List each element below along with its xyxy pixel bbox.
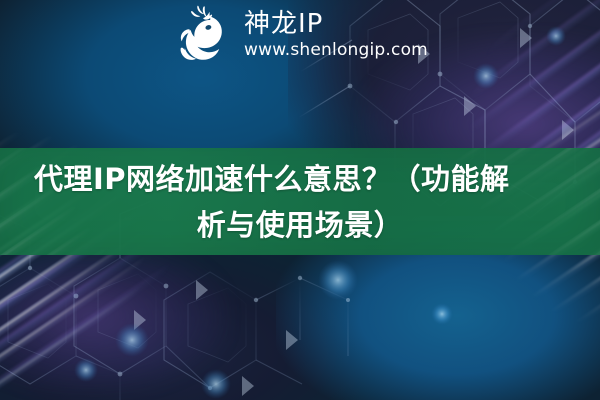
- site-logo[interactable]: 神龙IP www.shenlongip.com: [168, 4, 428, 66]
- brand-name-cn: 神龙IP: [244, 9, 428, 39]
- headline-line-1: 代理IP网络加速什么意思？（功能解: [26, 156, 574, 202]
- logo-text-block: 神龙IP www.shenlongip.com: [244, 9, 428, 61]
- brand-website: www.shenlongip.com: [244, 39, 428, 61]
- promo-banner: 神龙IP www.shenlongip.com 代理IP网络加速什么意思？（功能…: [0, 0, 600, 400]
- headline-line-2: 析与使用场景）: [197, 202, 404, 248]
- dragon-head-icon: [168, 4, 232, 66]
- page-title: 代理IP网络加速什么意思？（功能解 析与使用场景）: [0, 148, 600, 255]
